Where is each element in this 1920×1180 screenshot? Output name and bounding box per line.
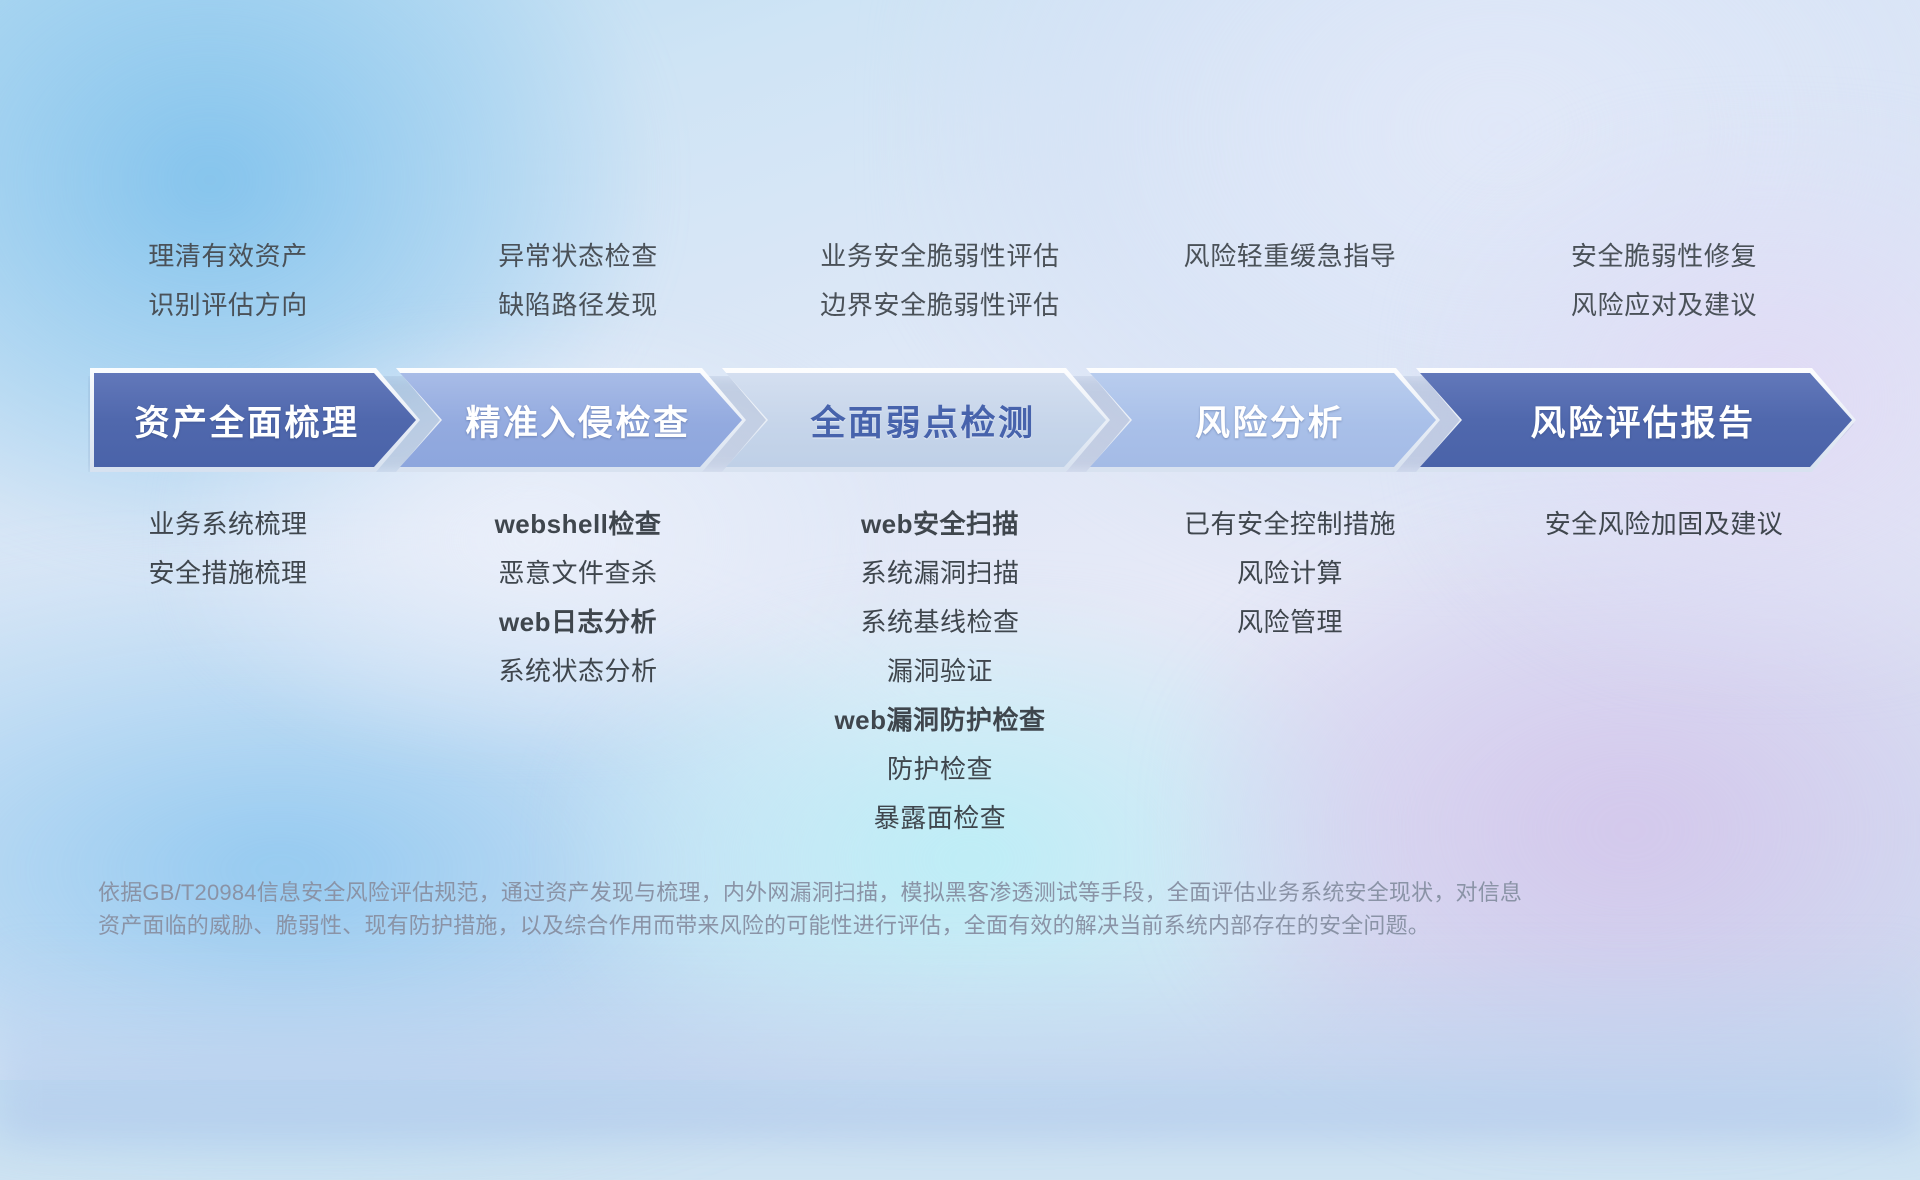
top-note-line: 异常状态检查: [368, 232, 788, 281]
stage-detail-item: 暴露面检查: [730, 794, 1150, 843]
stage-detail-list-2: webshell检查恶意文件查杀web日志分析系统状态分析: [368, 500, 788, 696]
stage-detail-item: 漏洞验证: [730, 647, 1150, 696]
process-stage-1[interactable]: 资产全面梳理: [90, 368, 420, 472]
top-note-line: 缺陷路径发现: [368, 281, 788, 330]
stage-detail-item: web漏洞防护检查: [730, 696, 1150, 745]
process-stage-label: 风险分析: [1195, 395, 1345, 446]
process-stage-label: 全面弱点检测: [810, 395, 1035, 446]
process-stage-label: 资产全面梳理: [134, 395, 359, 446]
stage-detail-item: 已有安全控制措施: [1080, 500, 1500, 549]
top-notes-row: 理清有效资产识别评估方向异常状态检查缺陷路径发现业务安全脆弱性评估边界安全脆弱性…: [0, 232, 1920, 342]
process-stage-5[interactable]: 风险评估报告: [1416, 368, 1856, 472]
stage-detail-item: 系统状态分析: [368, 647, 788, 696]
footer-line-1: 依据GB/T20984信息安全风险评估规范，通过资产发现与梳理，内外网漏洞扫描，…: [98, 876, 1608, 909]
process-stage-label: 风险评估报告: [1530, 395, 1755, 446]
top-note-line: 安全脆弱性修复: [1454, 232, 1874, 281]
top-note-column-4: 风险轻重缓急指导: [1080, 232, 1500, 281]
process-stage-3[interactable]: 全面弱点检测: [722, 368, 1110, 472]
footer-description: 依据GB/T20984信息安全风险评估规范，通过资产发现与梳理，内外网漏洞扫描，…: [98, 876, 1608, 942]
top-note-line: 风险应对及建议: [1454, 281, 1874, 330]
top-note-column-2: 异常状态检查缺陷路径发现: [368, 232, 788, 330]
slide-content: 理清有效资产识别评估方向异常状态检查缺陷路径发现业务安全脆弱性评估边界安全脆弱性…: [0, 0, 1920, 1080]
stage-detail-item: web日志分析: [368, 598, 788, 647]
stage-detail-item: 风险计算: [1080, 549, 1500, 598]
top-note-line: 风险轻重缓急指导: [1080, 232, 1500, 281]
stage-detail-item: 安全风险加固及建议: [1454, 500, 1874, 549]
process-stage-4[interactable]: 风险分析: [1086, 368, 1440, 472]
stage-detail-item: 防护检查: [730, 745, 1150, 794]
chevron-process-band: 资产全面梳理精准入侵检查全面弱点检测风险分析风险评估报告: [0, 368, 1920, 472]
footer-line-2: 资产面临的威胁、脆弱性、现有防护措施，以及综合作用而带来风险的可能性进行评估，全…: [98, 909, 1608, 942]
stage-detail-list-5: 安全风险加固及建议: [1454, 500, 1874, 549]
process-stage-2[interactable]: 精准入侵检查: [396, 368, 746, 472]
stage-detail-list-4: 已有安全控制措施风险计算风险管理: [1080, 500, 1500, 647]
top-note-line: 边界安全脆弱性评估: [730, 281, 1150, 330]
process-stage-label: 精准入侵检查: [465, 395, 690, 446]
stage-detail-item: 恶意文件查杀: [368, 549, 788, 598]
stage-detail-item: webshell检查: [368, 500, 788, 549]
top-note-column-5: 安全脆弱性修复风险应对及建议: [1454, 232, 1874, 330]
stage-detail-item: 风险管理: [1080, 598, 1500, 647]
